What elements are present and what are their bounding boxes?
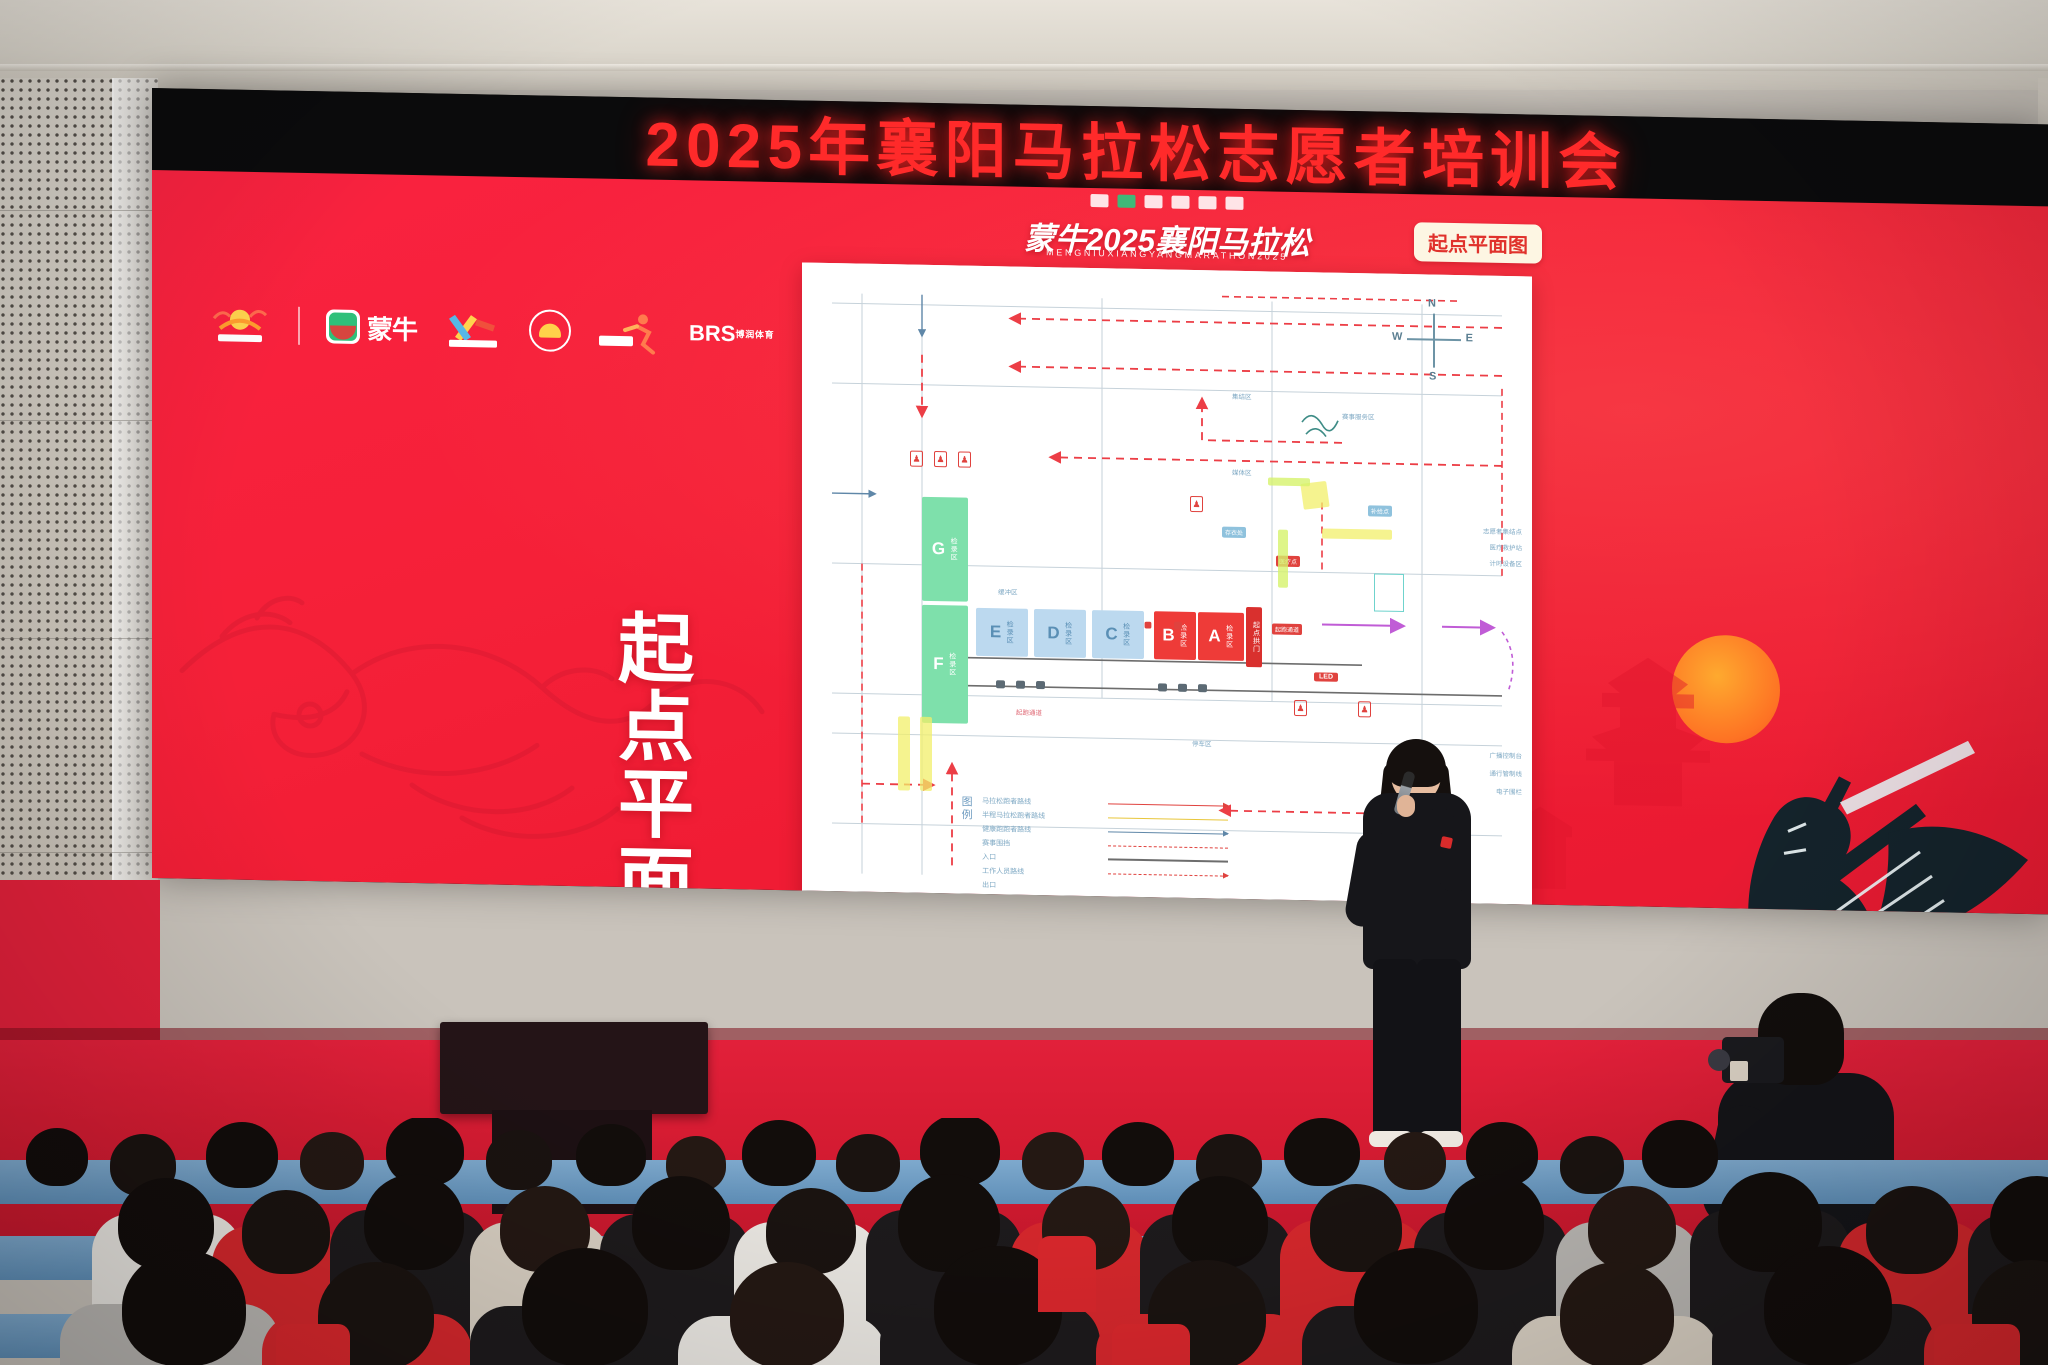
highlight-strip-5 (920, 717, 932, 791)
legend-key: 健康跑跑者路线 (982, 824, 1078, 836)
presenter-left-leg (1373, 959, 1417, 1139)
area-label-4: 停车区 (1192, 738, 1212, 748)
side-note-4: 广播控制台 (1490, 750, 1523, 761)
wall-seam (0, 638, 158, 639)
audience-head (632, 1176, 730, 1270)
zone-block-c: C 检录区 (1092, 610, 1144, 659)
zone-letter-c: C (1105, 624, 1117, 644)
sponsor-brs-logo: BRS 博润体育 (689, 310, 774, 358)
zone-label-g: 检录区 (948, 537, 958, 561)
side-note-1: 志愿者集结点 (1483, 526, 1522, 537)
audience-head (206, 1122, 278, 1188)
toilet-icon-5: ♟ (958, 451, 971, 467)
highlight-strip-3 (1278, 530, 1288, 588)
zone-letter-f: F (933, 654, 943, 674)
mini-logo-mengniu (1118, 195, 1136, 208)
map-mini-logo-row (1091, 194, 1244, 210)
zone-block-b: B 检录区 (1154, 611, 1196, 660)
zone-block-g: G 检录区 (922, 497, 968, 602)
audience-head (1642, 1120, 1718, 1188)
audience-head (730, 1262, 844, 1365)
legend-key: 马拉松跑者路线 (982, 796, 1078, 808)
toilet-icon-3: ♟ (910, 451, 923, 467)
baggage-marker: 存衣处 (1222, 527, 1246, 538)
audience-area (0, 1118, 2048, 1365)
camera-screen (1730, 1061, 1748, 1081)
legend-swatch-fence (1108, 845, 1228, 848)
toilet-icon-4: ♟ (934, 451, 947, 467)
sponsor-xiangyang-city-logo (208, 302, 272, 347)
presenter-hair (1386, 739, 1446, 787)
camera-lens-icon (1708, 1049, 1730, 1071)
legend-rows: 马拉松跑者路线 半程马拉松跑者路线 健康跑跑者路线 (982, 796, 1228, 895)
audience-head (300, 1132, 364, 1190)
legend-swatch-exit (1108, 887, 1228, 889)
audience-head (1172, 1176, 1268, 1268)
legend-swatch-half (1108, 817, 1228, 820)
zone-letter-d: D (1047, 623, 1059, 643)
entrance-chip-1 (996, 680, 1005, 688)
audience-head (1866, 1186, 1958, 1274)
legend-key: 赛事围挡 (982, 838, 1078, 850)
audience-head (576, 1124, 646, 1186)
sponsor-logo-row: 蒙牛 (208, 301, 774, 358)
mini-logo-5 (1199, 196, 1217, 209)
headline-char-4: 面 (604, 843, 708, 914)
zone-block-f: F 检录区 (922, 605, 968, 724)
compass-north-label: N (1428, 298, 1436, 310)
route-chip-3 (1174, 622, 1182, 630)
audience-head (1560, 1262, 1674, 1365)
sponsor-city-seal-logo (529, 309, 571, 352)
zone-letter-g: G (932, 539, 945, 559)
wall-seam (0, 420, 158, 421)
map-legend: 图例 马拉松跑者路线 半程马拉松跑者路线 健康跑跑者路线 (960, 796, 1228, 895)
zone-label-e: 检录区 (1004, 620, 1014, 644)
legend-key: 半程马拉松跑者路线 (982, 810, 1078, 822)
compass-rose: N S W E (1394, 300, 1472, 379)
brs-subtext: 博润体育 (735, 330, 774, 339)
zone-label-a: 检录区 (1224, 625, 1234, 649)
volunteer-vest (276, 1324, 350, 1365)
compass-vertical-axis (1433, 314, 1435, 368)
zone-label-c: 检录区 (1121, 623, 1131, 647)
mini-logo-3 (1145, 195, 1163, 208)
start-arch-block: 起点拱门 (1246, 607, 1262, 667)
skyline-warrior-art (1488, 496, 2048, 915)
sponsor-athletics-association-logo (443, 306, 503, 353)
mini-logo-4 (1172, 196, 1190, 209)
area-label-2: 赛事服务区 (1342, 411, 1375, 422)
highlight-strip-4 (898, 716, 910, 790)
zone-letter-a: A (1208, 626, 1220, 646)
sponsor-runner-logo (597, 309, 663, 356)
grid-structure (1374, 573, 1404, 612)
slide-body: 蒙牛 (152, 170, 2048, 914)
audience-head (242, 1190, 330, 1274)
legend-key: 工作人员路线 (982, 866, 1078, 878)
area-label-5: 缓冲区 (998, 586, 1018, 596)
start-arch-label: 起点拱门 (1251, 621, 1261, 653)
presenter-badge-pin (1440, 836, 1453, 849)
mengniu-mark-icon (326, 309, 360, 344)
route-chip-1 (1145, 622, 1152, 629)
presenter-right-leg (1417, 959, 1461, 1139)
area-label-6: 起跑通道 (1016, 707, 1042, 717)
legend-item: 工作人员路线 (982, 866, 1228, 881)
audience-head (522, 1248, 648, 1365)
volunteer-vest (1112, 1324, 1190, 1365)
headline-char-2: 点 (604, 688, 708, 768)
entrance-chip-5 (1178, 684, 1187, 692)
audience-head (742, 1120, 816, 1186)
legend-item: 赛事围挡 (982, 838, 1228, 853)
highlight-strip-2 (1268, 477, 1310, 486)
ceiling (0, 0, 2048, 90)
led-marker: LED (1314, 672, 1338, 681)
map-badge: 起点平面图 (1414, 222, 1542, 263)
entrance-chip-6 (1198, 684, 1207, 692)
audience-head (486, 1130, 552, 1190)
legend-swatch-marathon (1108, 803, 1228, 806)
legend-item: 健康跑跑者路线 (982, 824, 1228, 839)
toilet-icon-1: ♟ (1294, 700, 1307, 716)
compass-east-label: E (1466, 332, 1473, 344)
entrance-chip-2 (1016, 681, 1025, 689)
legend-swatch-staff (1108, 873, 1228, 876)
zone-label-f: 检录区 (947, 652, 957, 676)
zone-block-a: A 检录区 (1198, 612, 1244, 661)
compass-south-label: S (1429, 371, 1436, 383)
zone-block-d: D 检录区 (1034, 609, 1086, 658)
audience-head (1588, 1186, 1676, 1270)
wall-seam (0, 210, 158, 211)
area-label-3: 媒体区 (1232, 467, 1252, 477)
auditorium-scene: 2025年襄阳马拉松志愿者培训会 (0, 0, 2048, 1365)
slide-vertical-headline: 起 点 平 面 图 (604, 611, 708, 915)
audience-head (1384, 1132, 1446, 1190)
headline-char-1: 起 (604, 611, 708, 691)
audience-head (26, 1128, 88, 1186)
audience-head (766, 1188, 856, 1274)
podium-top (440, 1022, 708, 1114)
audience-head (1284, 1118, 1360, 1186)
compass-west-label: W (1392, 331, 1402, 343)
legend-key: 入口 (982, 852, 1078, 864)
mengniu-wordmark: 蒙牛 (367, 309, 417, 347)
stage-side-skirt (0, 880, 160, 1040)
presenter (1345, 745, 1485, 1165)
logo-divider (298, 307, 300, 345)
side-note-3: 计时设备区 (1490, 558, 1523, 569)
entrance-chip-4 (1158, 683, 1167, 691)
legend-key: 出口 (982, 880, 1078, 892)
brs-wordmark: BRS (689, 323, 735, 345)
audience-head (1444, 1174, 1544, 1270)
zone-label-d: 检录区 (1063, 621, 1073, 645)
legend-swatch-entrance (1108, 858, 1228, 862)
side-note-2: 医疗救护站 (1490, 542, 1523, 553)
audience-head (1354, 1248, 1478, 1364)
audience-head (1022, 1132, 1084, 1190)
legend-item: 半程马拉松跑者路线 (982, 810, 1228, 825)
audience-head (1102, 1122, 1174, 1186)
side-note-5: 通行管制线 (1490, 768, 1523, 779)
sponsor-mengniu-logo: 蒙牛 (326, 303, 417, 351)
presenter-hand (1397, 795, 1415, 817)
highlight-strip-1 (1322, 528, 1392, 539)
route-chip-2: 起跑通道 (1272, 624, 1302, 636)
water-marker: 补给点 (1368, 505, 1392, 516)
legend-title: 图例 (960, 796, 972, 822)
headline-char-3: 平 (604, 766, 708, 846)
zone-block-e: E 检录区 (976, 608, 1028, 657)
area-label-1: 集结区 (1232, 391, 1252, 401)
legend-swatch-health (1108, 831, 1228, 834)
side-note-6: 电子围栏 (1496, 786, 1522, 796)
audience-head (1764, 1246, 1892, 1365)
zone-letter-e: E (990, 622, 1001, 642)
audience-head (836, 1134, 900, 1192)
legend-item: 入口 (982, 852, 1228, 867)
ceiling-trim (0, 64, 2048, 71)
volunteer-vest (1038, 1236, 1096, 1312)
mini-logo-1 (1091, 194, 1109, 207)
toilet-icon-2: ♟ (1358, 701, 1371, 717)
mini-logo-6 (1226, 197, 1244, 210)
led-screen: 2025年襄阳马拉松志愿者培训会 (152, 88, 2048, 914)
audience-head (1560, 1136, 1624, 1194)
volunteer-vest (1934, 1324, 2020, 1365)
entrance-chip-3 (1036, 681, 1045, 689)
wall-seam (0, 852, 158, 853)
zone-letter-b: B (1162, 625, 1174, 645)
toilet-icon-6: ♟ (1190, 496, 1203, 512)
audience-head (122, 1250, 246, 1365)
audience-head (364, 1174, 464, 1270)
